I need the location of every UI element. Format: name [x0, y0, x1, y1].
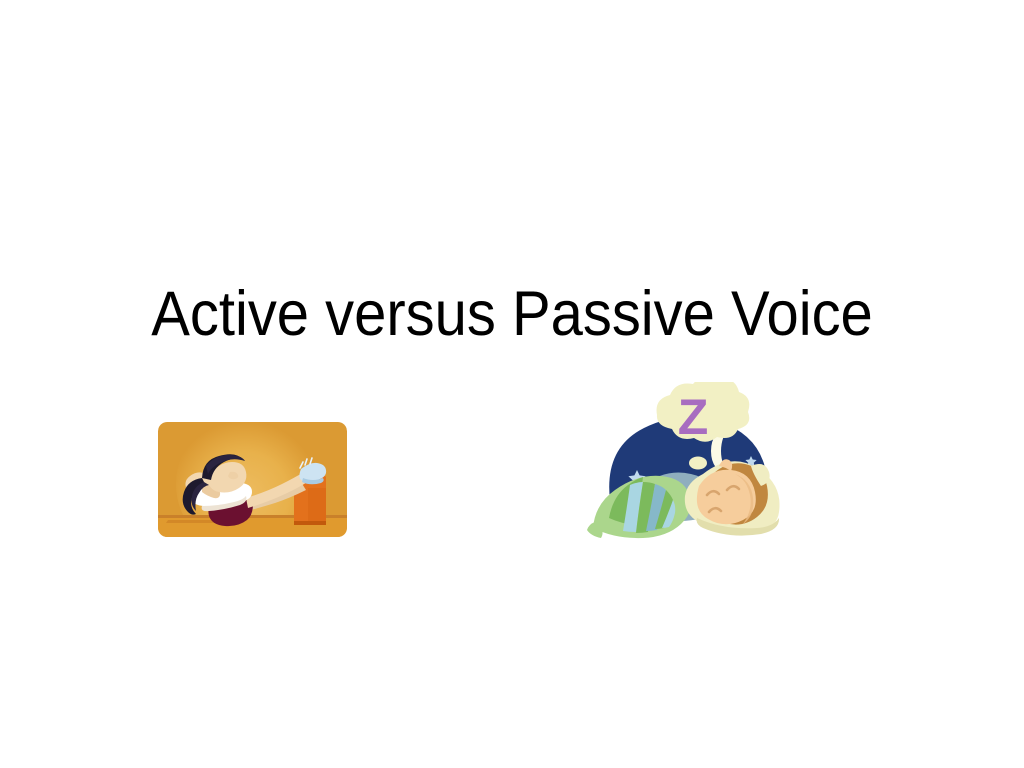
- blanket-stripes: [587, 476, 691, 538]
- sleeping-child-clipart[interactable]: Z: [585, 382, 810, 547]
- thought-dot: [689, 457, 707, 470]
- dream-letter-z: Z: [678, 389, 709, 445]
- sleeping-scene: Z: [587, 382, 780, 538]
- exercise-scene: [158, 422, 347, 537]
- page-title: Active versus Passive Voice: [41, 283, 983, 346]
- slide-canvas: Active versus Passive Voice: [0, 0, 1024, 768]
- exercise-clipart[interactable]: [158, 422, 347, 537]
